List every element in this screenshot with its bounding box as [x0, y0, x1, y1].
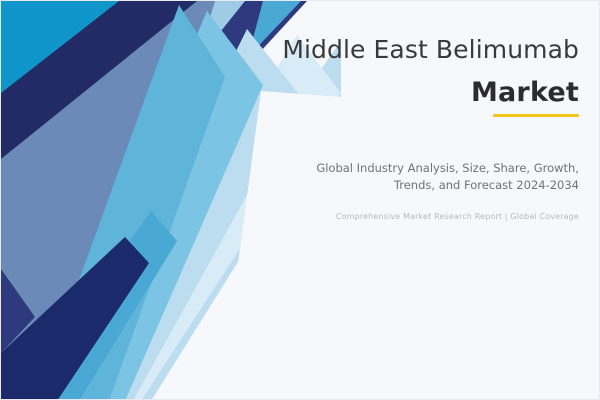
report-tagline: Comprehensive Market Research Report | G…	[279, 211, 579, 222]
report-subtitle-line2: Trends, and Forecast 2024-2034	[279, 177, 579, 194]
title-accent-word: Market	[471, 77, 579, 108]
report-cover: Middle East Belimumab Market Global Indu…	[0, 0, 600, 400]
title-accent-wrap: Market	[279, 77, 579, 117]
cover-text-block: Middle East Belimumab Market Global Indu…	[279, 35, 579, 222]
page-title: Middle East Belimumab	[279, 35, 579, 65]
report-subtitle: Global Industry Analysis, Size, Share, G…	[279, 160, 579, 195]
report-subtitle-line1: Global Industry Analysis, Size, Share, G…	[279, 160, 579, 177]
title-accent-underline	[493, 114, 579, 117]
